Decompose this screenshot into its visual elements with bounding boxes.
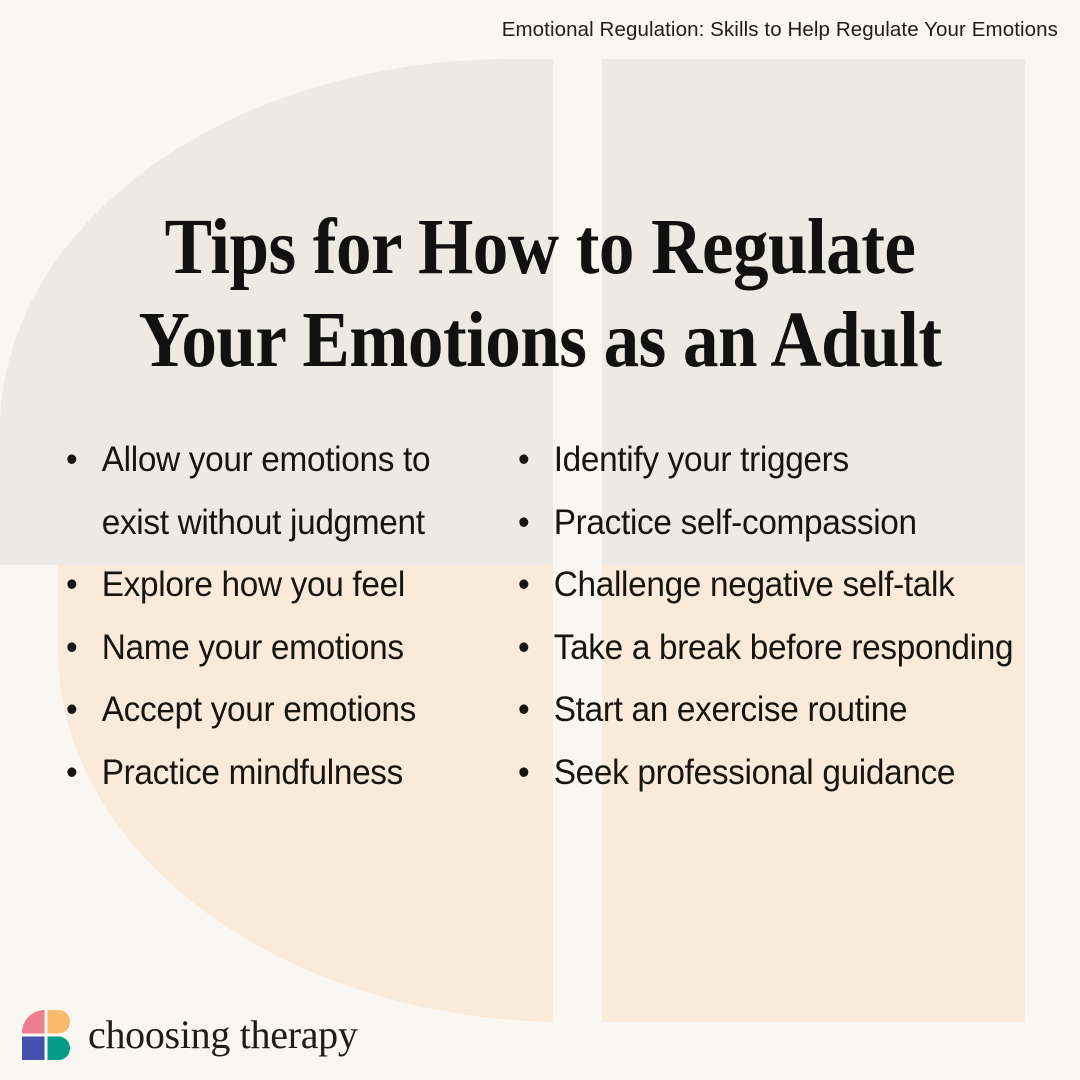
list-item: • Accept your emotions [66, 678, 483, 741]
bullet-icon: • [518, 678, 554, 741]
bullet-icon: • [66, 553, 102, 616]
brand-logo[interactable]: choosing therapy [22, 1010, 358, 1060]
list-item-label: Identify your triggers [554, 428, 1047, 491]
bullet-icon: • [66, 428, 102, 491]
list-item: • Identify your triggers [518, 428, 1046, 491]
list-item: • Name your emotions [66, 616, 483, 679]
list-item-label: Practice mindfulness [102, 741, 484, 804]
list-item: • Start an exercise routine [518, 678, 1046, 741]
bullet-icon: • [518, 553, 554, 616]
list-item-label: Take a break before responding [554, 616, 1047, 679]
bullet-icon: • [66, 678, 102, 741]
list-item-label: Name your emotions [102, 616, 484, 679]
choosing-therapy-logo-icon [22, 1010, 70, 1060]
list-item: • Practice mindfulness [66, 741, 483, 804]
list-item-label: Start an exercise routine [554, 678, 1047, 741]
bullet-icon: • [518, 491, 554, 554]
list-item: • Seek professional guidance [518, 741, 1046, 804]
list-item-label: Accept your emotions [102, 678, 484, 741]
infographic-canvas: Emotional Regulation: Skills to Help Reg… [0, 0, 1080, 1080]
list-item: • Practice self-compassion [518, 491, 1046, 554]
list-item-label: Allow your emotions to exist without jud… [102, 428, 473, 553]
tips-column-right: • Identify your triggers • Practice self… [510, 428, 1080, 803]
brand-wordmark: choosing therapy [88, 1013, 358, 1057]
list-item-label: Explore how you feel [102, 553, 484, 616]
list-item-label: Seek professional guidance [554, 741, 1047, 804]
bullet-icon: • [66, 616, 102, 679]
list-item: • Explore how you feel [66, 553, 483, 616]
list-item: • Allow your emotions to exist without j… [66, 428, 483, 553]
bullet-icon: • [518, 616, 554, 679]
list-item: • Challenge negative self-talk [518, 553, 1046, 616]
list-item: • Take a break before responding [518, 616, 1046, 679]
bullet-icon: • [518, 741, 554, 804]
bullet-icon: • [518, 428, 554, 491]
list-item-label: Practice self-compassion [554, 491, 1047, 554]
header-eyebrow: Emotional Regulation: Skills to Help Reg… [502, 18, 1058, 42]
page-title-line-2: Your Emotions as an Adult [54, 294, 1026, 387]
page-title-line-1: Tips for How to Regulate [54, 201, 1026, 294]
list-item-label: Challenge negative self-talk [554, 553, 1047, 616]
tips-column-left: • Allow your emotions to exist without j… [0, 428, 510, 803]
bullet-icon: • [66, 741, 102, 804]
page-title: Tips for How to Regulate Your Emotions a… [54, 201, 1026, 387]
tips-lists: • Allow your emotions to exist without j… [0, 428, 1080, 803]
